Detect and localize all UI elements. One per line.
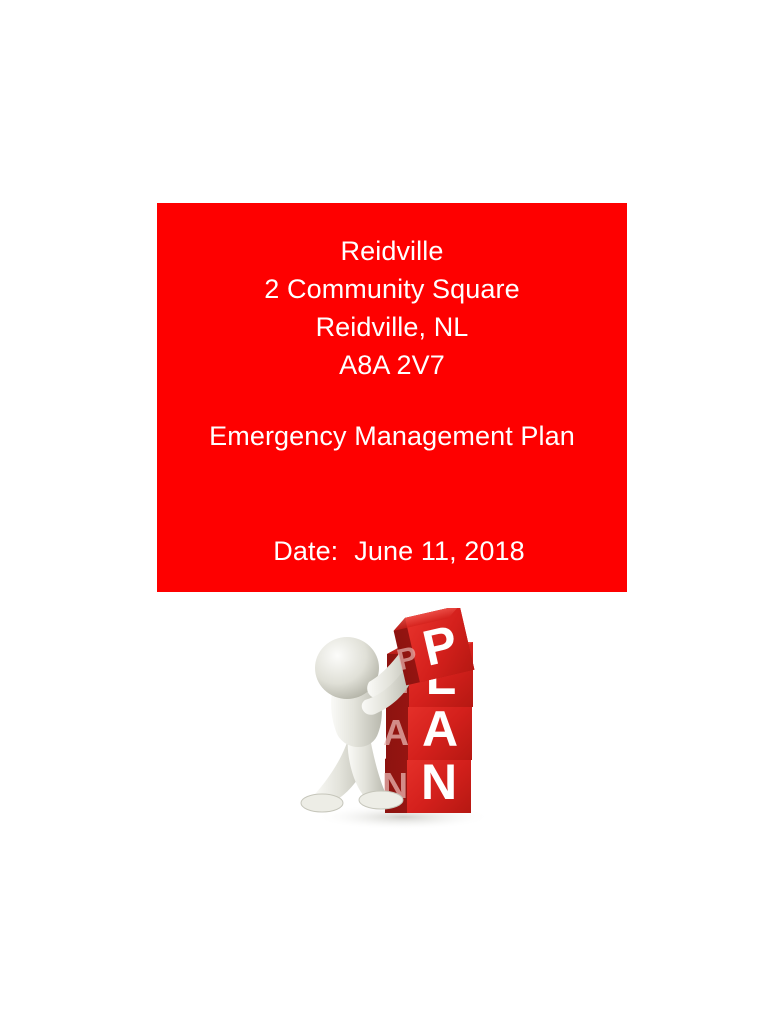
block-label-p: P <box>285 836 286 837</box>
plan-blocks-svg: N N A A L L <box>285 608 510 836</box>
document-title-text: Emergency Management Plan <box>157 417 627 455</box>
date-label: Date: <box>273 536 338 566</box>
svg-text:A: A <box>422 701 458 757</box>
title-banner: Reidville 2 Community Square Reidville, … <box>157 203 627 592</box>
plan-blocks-illustration: N N A A L L <box>285 608 510 836</box>
block-label-l: L <box>285 836 286 837</box>
address-line-city-province: Reidville, NL <box>157 308 627 346</box>
figure-foot-back <box>301 794 343 812</box>
document-title: Emergency Management Plan <box>157 417 627 455</box>
date-line: Date:June 11, 2018 <box>157 532 627 570</box>
block-label-a: A <box>285 836 286 837</box>
address-line-organization: Reidville <box>157 232 627 270</box>
address-line-postal-code: A8A 2V7 <box>157 346 627 384</box>
date-value: June 11, 2018 <box>354 536 524 566</box>
address-block: Reidville 2 Community Square Reidville, … <box>157 232 627 384</box>
date-line-text: Date:June 11, 2018 <box>171 532 627 570</box>
svg-text:A: A <box>383 712 409 753</box>
figure-foot-front <box>359 791 403 809</box>
address-line-street: 2 Community Square <box>157 270 627 308</box>
block-label-n: N <box>285 836 286 837</box>
svg-text:N: N <box>421 754 457 810</box>
